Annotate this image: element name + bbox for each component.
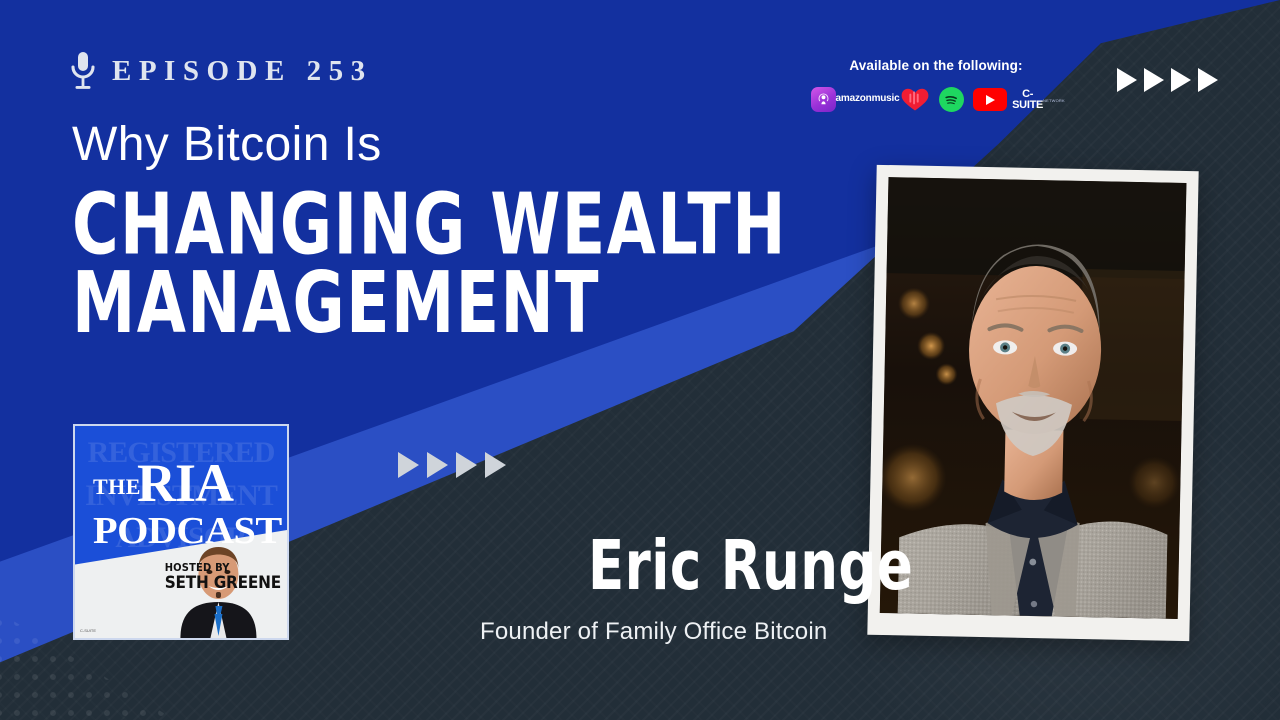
arrow-icon xyxy=(456,452,477,478)
title-main: CHANGING WEALTH MANAGEMENT xyxy=(72,183,787,345)
episode-label: EPISODE 253 xyxy=(112,55,373,88)
amazon-label2: music xyxy=(872,94,900,104)
c-suite-label: C-SUITE xyxy=(1012,89,1043,111)
cover-host-credit: HOSTED BY SETH GREENE xyxy=(165,562,281,592)
title-main-line-2: MANAGEMENT xyxy=(72,262,787,345)
availability-label: Available on the following: xyxy=(806,58,1066,73)
page-title: Why Bitcoin Is CHANGING WEALTH MANAGEMEN… xyxy=(72,120,841,324)
podcast-cover-art[interactable]: REGISTERED INVESTMENT ADVISOR THE RIA PO… xyxy=(73,424,289,640)
cover-hosted-by-label: HOSTED BY xyxy=(165,562,281,573)
arrow-icon xyxy=(398,452,419,478)
arrow-group-middle xyxy=(398,452,506,478)
episode-row: EPISODE 253 xyxy=(70,50,373,92)
spotify-icon[interactable] xyxy=(939,87,964,112)
platform-badges: amazon music xyxy=(806,87,1066,112)
apple-podcasts-icon[interactable] xyxy=(811,87,836,112)
arrow-icon xyxy=(427,452,448,478)
youtube-icon[interactable] xyxy=(973,88,1007,111)
arrow-group-top xyxy=(1117,68,1218,92)
amazon-music-icon[interactable]: amazon music xyxy=(845,94,891,104)
amazon-label: amazon xyxy=(836,94,872,104)
cover-ria-label: RIA xyxy=(137,456,233,510)
guest-role: Founder of Family Office Bitcoin xyxy=(480,618,827,646)
arrow-icon xyxy=(485,452,506,478)
c-suite-sublabel: NETWORK xyxy=(1043,98,1065,103)
availability-section: Available on the following: amazon music xyxy=(806,58,1066,112)
episode-graphic: EPISODE 253 Why Bitcoin Is CHANGING WEAL… xyxy=(0,0,1280,720)
cover-watermark: C-SUITE xyxy=(80,628,96,633)
c-suite-icon[interactable]: C-SUITE NETWORK xyxy=(1016,89,1062,111)
microphone-icon xyxy=(70,50,96,92)
title-pre-line: Why Bitcoin Is xyxy=(72,120,841,171)
arrow-icon xyxy=(1198,68,1218,92)
arrow-icon xyxy=(1171,68,1191,92)
iheartradio-icon[interactable] xyxy=(900,87,930,112)
arrow-icon xyxy=(1117,68,1137,92)
cover-host-name: SETH GREENE xyxy=(165,575,281,592)
cover-the-label: THE xyxy=(93,474,141,500)
guest-photo xyxy=(880,177,1187,619)
guest-name: Eric Runge xyxy=(588,532,913,600)
arrow-icon xyxy=(1144,68,1164,92)
play-triangle-icon xyxy=(986,95,995,105)
guest-photo-frame xyxy=(867,165,1198,641)
